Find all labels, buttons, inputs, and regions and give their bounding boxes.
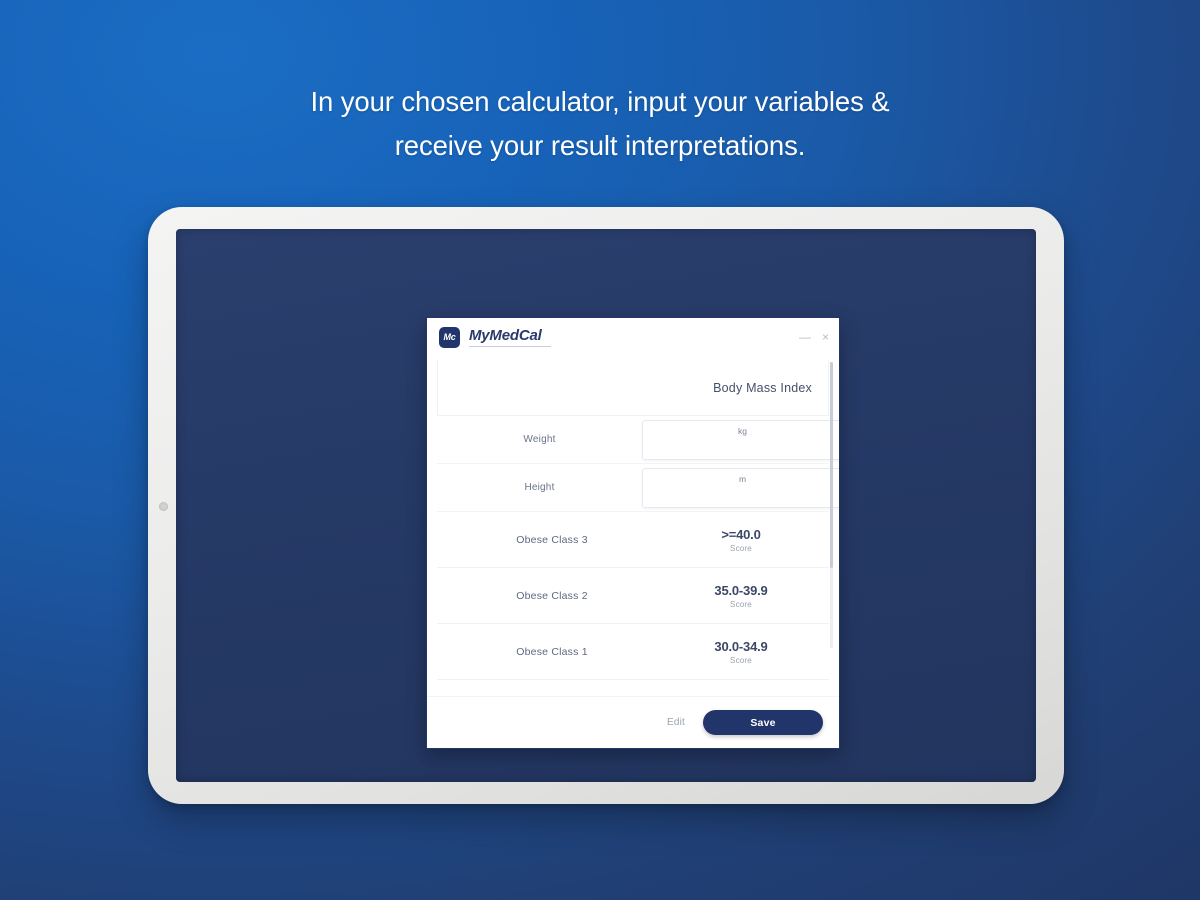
weight-unit-label: kg	[738, 426, 747, 436]
result-label: Obese Class 1	[437, 646, 667, 658]
weight-label: Weight	[437, 434, 642, 445]
dialog-footer: Edit Save	[427, 696, 839, 748]
result-value-block: >=40.0 Score	[667, 527, 829, 553]
result-score: >=40.0	[667, 527, 815, 542]
result-score-caption: Score	[667, 656, 815, 665]
mymedcal-app-window: Mc MyMedCal — × Body Mass Index	[426, 317, 840, 749]
page-headline: In your chosen calculator, input your va…	[0, 80, 1200, 168]
weight-input[interactable]: kg	[642, 420, 839, 460]
page-title: Body Mass Index	[713, 381, 812, 395]
result-row-obese-class-3[interactable]: Obese Class 3 >=40.0 Score	[437, 512, 829, 568]
result-value-block: 35.0-39.9 Score	[667, 583, 829, 609]
content-scrollbar-thumb[interactable]	[830, 362, 833, 568]
tablet-camera-icon	[159, 502, 168, 511]
tablet-screen: Mc MyMedCal — × Body Mass Index	[176, 229, 1036, 782]
app-logo-icon: Mc	[439, 327, 460, 348]
minimize-icon[interactable]: —	[799, 331, 811, 343]
tablet-device-frame: Mc MyMedCal — × Body Mass Index	[148, 207, 1064, 804]
edit-button[interactable]: Edit	[667, 717, 685, 728]
result-score: 35.0-39.9	[667, 583, 815, 598]
result-row-obese-class-2[interactable]: Obese Class 2 35.0-39.9 Score	[437, 568, 829, 624]
window-controls: — ×	[799, 331, 829, 343]
app-wordmark-underline	[469, 346, 551, 347]
result-score: 30.0-34.9	[667, 639, 815, 654]
app-titlebar: Mc MyMedCal — ×	[427, 318, 839, 356]
content-scrollbar[interactable]	[830, 362, 833, 648]
result-score-caption: Score	[667, 544, 815, 553]
result-label: Obese Class 3	[437, 534, 667, 546]
result-row-obese-class-1[interactable]: Obese Class 1 30.0-34.9 Score	[437, 624, 829, 680]
calculator-content: Body Mass Index Weight kg Height m	[427, 356, 839, 696]
result-value-block: 30.0-34.9 Score	[667, 639, 829, 665]
close-icon[interactable]: ×	[822, 331, 829, 343]
headline-line-1: In your chosen calculator, input your va…	[310, 86, 889, 117]
save-button[interactable]: Save	[703, 710, 823, 735]
field-row-weight: Weight kg	[437, 416, 829, 464]
headline-line-2: receive your result interpretations.	[0, 124, 1200, 168]
calculator-title-row: Body Mass Index	[437, 360, 829, 416]
app-wordmark-block: MyMedCal	[469, 328, 551, 347]
height-label: Height	[437, 482, 642, 493]
height-unit-label: m	[739, 474, 746, 484]
app-wordmark: MyMedCal	[469, 328, 551, 343]
result-score-caption: Score	[667, 600, 815, 609]
result-label: Obese Class 2	[437, 590, 667, 602]
field-row-height: Height m	[437, 464, 829, 512]
height-input[interactable]: m	[642, 468, 839, 508]
